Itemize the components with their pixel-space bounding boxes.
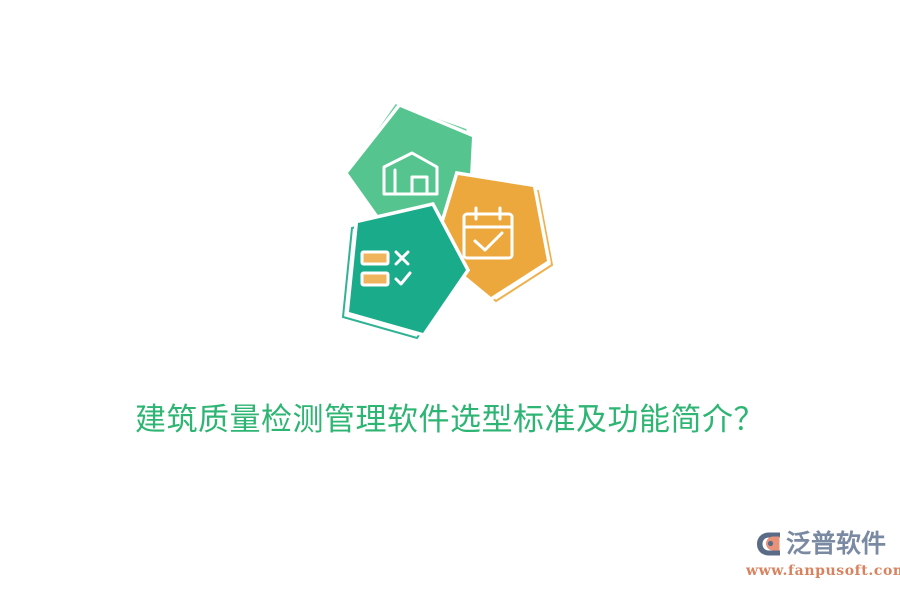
pentagon-cluster-illustration: [300, 95, 570, 360]
brand-name: 泛普软件: [786, 529, 886, 559]
page-title: 建筑质量检测管理软件选型标准及功能简介？: [0, 398, 900, 442]
brand-watermark[interactable]: 泛普软件 www.fanpusoft.com: [746, 526, 886, 584]
fanpu-logo-icon: [753, 529, 783, 559]
illustration-svg: [300, 95, 570, 360]
brand-url: www.fanpusoft.com: [746, 562, 886, 580]
brand-logo-row: 泛普软件: [746, 526, 886, 562]
page-canvas: 建筑质量检测管理软件选型标准及功能简介？ 泛普软件 www.fanpusoft.…: [0, 0, 900, 600]
